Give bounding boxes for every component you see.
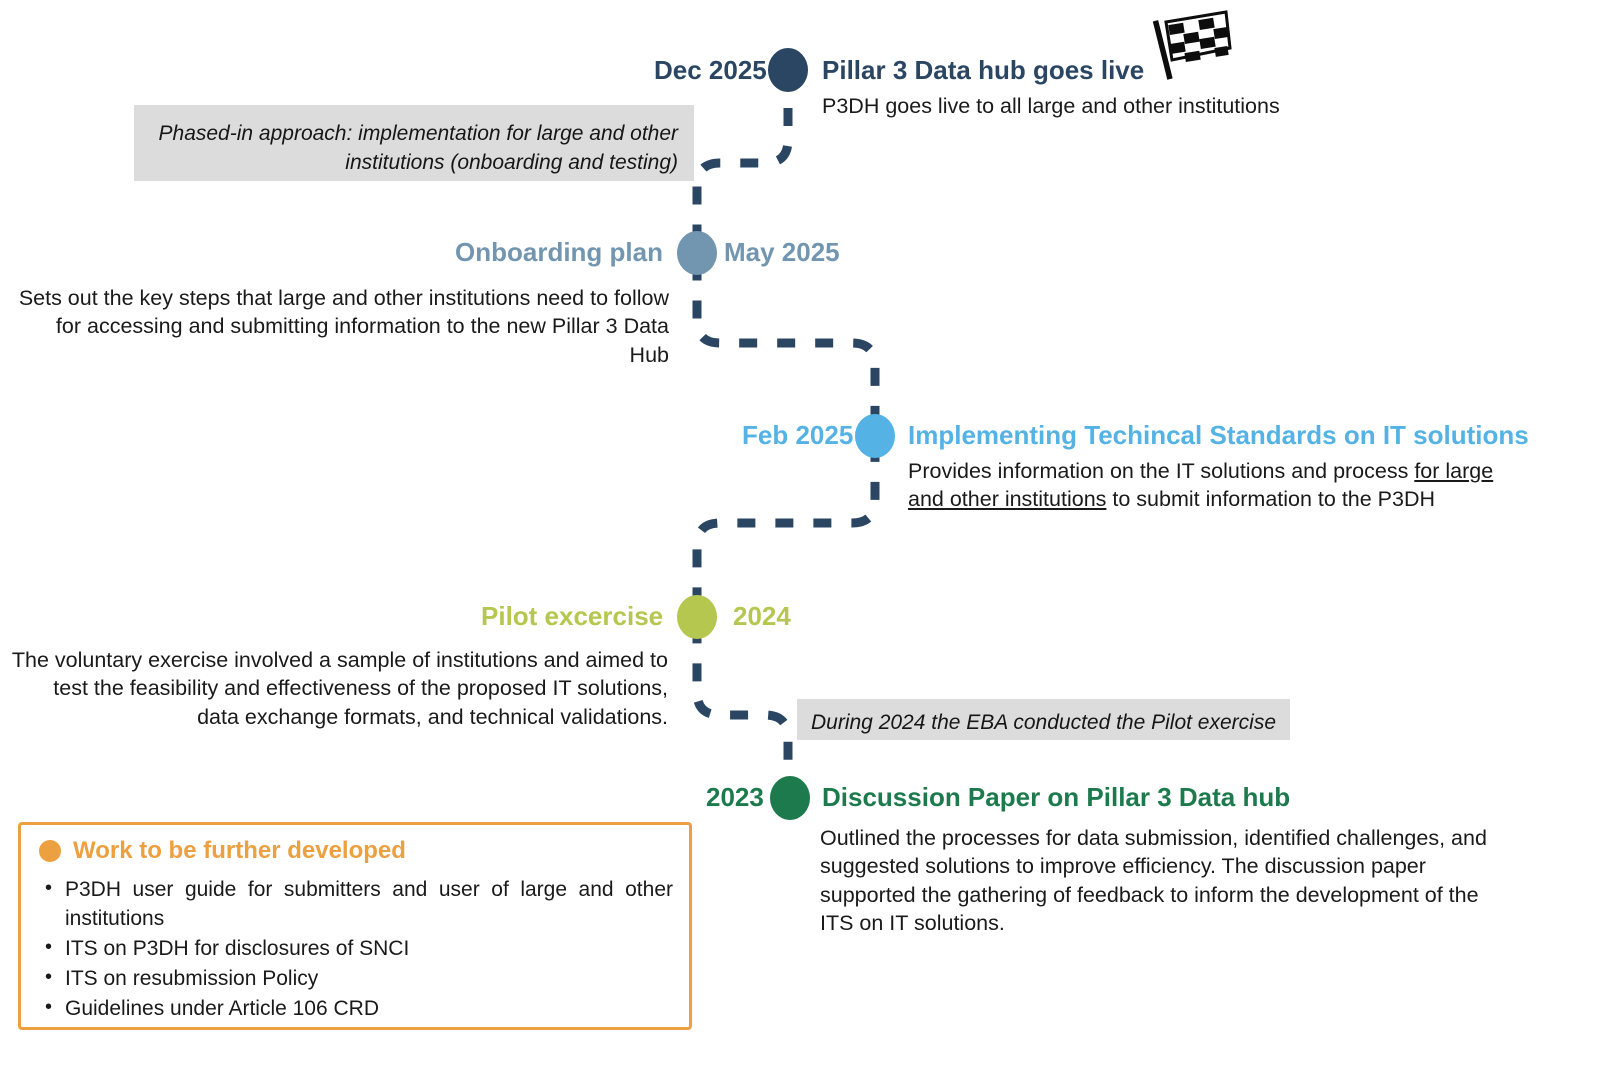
milestone-title-feb-2025: Implementing Techincal Standards on IT s… [908,422,1529,448]
milestone-title-2024: Pilot excercise [481,603,663,629]
milestone-dot-may-2025 [677,231,717,275]
milestone-date-feb-2025: Feb 2025 [742,422,853,448]
orange-dot-icon [39,840,61,862]
future-work-list: P3DH user guide for submitters and user … [21,876,689,1024]
future-work-header: Work to be further developed [21,825,689,863]
list-item: ITS on resubmission Policy [65,965,673,994]
callout-pilot-note: During 2024 the EBA conducted the Pilot … [797,699,1290,740]
callout-phased-in-note: Phased-in approach: implementation for l… [134,105,694,181]
milestone-description-2023: Outlined the processes for data submissi… [820,824,1492,938]
future-work-title: Work to be further developed [73,839,406,863]
milestone-description-feb-2025: Provides information on the IT solutions… [908,457,1508,514]
milestone-date-dec-2025: Dec 2025 [654,57,767,83]
list-item: ITS on P3DH for disclosures of SNCI [65,935,673,964]
milestone-description-dec-2025: P3DH goes live to all large and other in… [822,92,1462,120]
milestone-dot-feb-2025 [855,414,895,458]
milestone-dot-2023 [770,776,810,820]
milestone-description-may-2025: Sets out the key steps that large and ot… [14,284,669,369]
feb-desc-part2: to submit information to the P3DH [1106,487,1435,511]
milestone-description-2024: The voluntary exercise involved a sample… [8,646,668,731]
milestone-dot-2024 [677,595,717,639]
timeline-diagram: Dec 2025 Pillar 3 Data hub goes live P3D… [0,0,1602,1080]
milestone-title-may-2025: Onboarding plan [455,239,663,265]
milestone-title-dec-2025: Pillar 3 Data hub goes live [822,57,1144,83]
list-item: P3DH user guide for submitters and user … [65,876,673,934]
milestone-date-2023: 2023 [706,784,764,810]
milestone-date-may-2025: May 2025 [724,239,840,265]
milestone-title-2023: Discussion Paper on Pillar 3 Data hub [822,784,1290,810]
feb-desc-part1: Provides information on the IT solutions… [908,459,1414,483]
future-work-panel: Work to be further developed P3DH user g… [18,822,692,1030]
list-item: Guidelines under Article 106 CRD [65,995,673,1024]
checkered-flag-icon [1152,8,1234,82]
milestone-dot-dec-2025 [768,48,808,92]
milestone-date-2024: 2024 [733,603,791,629]
